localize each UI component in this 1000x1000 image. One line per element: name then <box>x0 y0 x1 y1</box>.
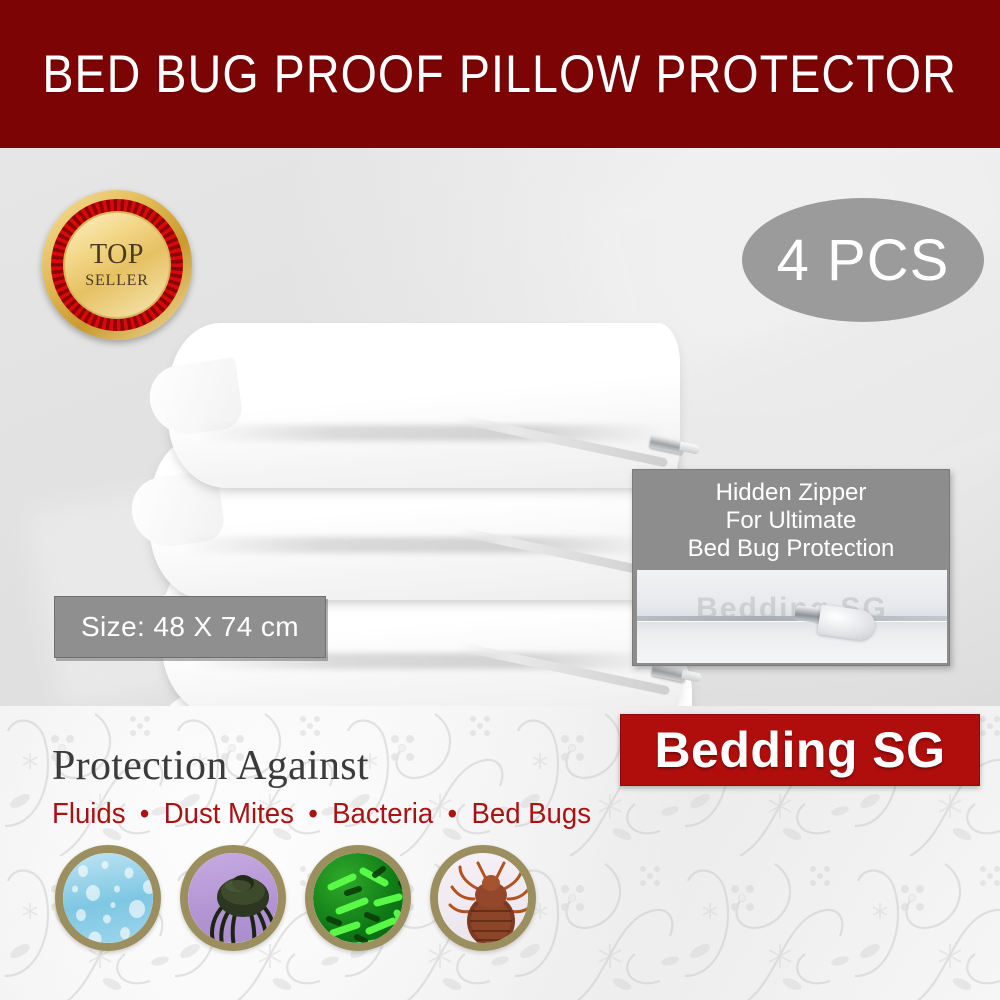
zipper-slider-icon <box>649 434 685 454</box>
header-banner: BED BUG PROOF PILLOW PROTECTOR <box>0 0 1000 148</box>
bullet-separator-icon: • <box>302 798 325 830</box>
bedbug-glyph <box>438 853 536 951</box>
size-label-text: Size: 48 X 74 cm <box>81 611 299 643</box>
bacteria-glyph <box>313 853 411 951</box>
protection-item-fluids: Fluids <box>52 798 125 830</box>
pillow-item <box>168 323 680 488</box>
droplet-glyphs <box>63 853 161 951</box>
protection-item-bed-bugs: Bed Bugs <box>471 798 590 830</box>
pillow-crease <box>199 425 665 441</box>
product-poster: BED BUG PROOF PILLOW PROTECTOR <box>0 0 1000 1000</box>
page-title: BED BUG PROOF PILLOW PROTECTOR <box>43 44 958 105</box>
bed-bug-icon <box>430 845 536 951</box>
protection-heading: Protection Against <box>52 742 369 790</box>
dust-mite-icon <box>180 845 286 951</box>
badge-label-seller: SELLER <box>85 273 148 289</box>
zipper-caption-line-1: Hidden Zipper <box>716 479 867 507</box>
zipper-track <box>637 616 947 621</box>
zipper-caption-line-3: Bed Bug Protection <box>688 535 895 563</box>
size-label: Size: 48 X 74 cm <box>54 596 326 658</box>
protection-icon-row <box>0 845 600 955</box>
badge-label-top: TOP <box>90 241 144 269</box>
mite-glyph <box>188 853 286 951</box>
brand-logo-text: Bedding SG <box>654 721 945 779</box>
top-seller-badge: TOP SELLER <box>42 190 192 340</box>
water-droplets-icon <box>55 845 161 951</box>
protection-list: Fluids • Dust Mites • Bacteria • Bed Bug… <box>52 798 591 831</box>
brand-logo: Bedding SG <box>620 714 980 786</box>
badge-face: TOP SELLER <box>63 211 171 319</box>
bullet-separator-icon: • <box>133 798 156 830</box>
quantity-badge: 4 PCS <box>742 198 984 322</box>
hidden-zipper-caption: Hidden Zipper For Ultimate Bed Bug Prote… <box>633 470 949 567</box>
pillow-crease <box>182 537 663 553</box>
bacteria-icon <box>305 845 411 951</box>
bullet-separator-icon: • <box>441 798 464 830</box>
quantity-badge-label: 4 PCS <box>777 227 950 294</box>
hidden-zipper-panel: Hidden Zipper For Ultimate Bed Bug Prote… <box>632 469 950 666</box>
protection-item-bacteria: Bacteria <box>332 798 433 830</box>
zipper-closeup-photo: Bedding SG <box>637 570 947 663</box>
protection-item-dust-mites: Dust Mites <box>164 798 294 830</box>
zipper-caption-line-2: For Ultimate <box>726 507 857 535</box>
